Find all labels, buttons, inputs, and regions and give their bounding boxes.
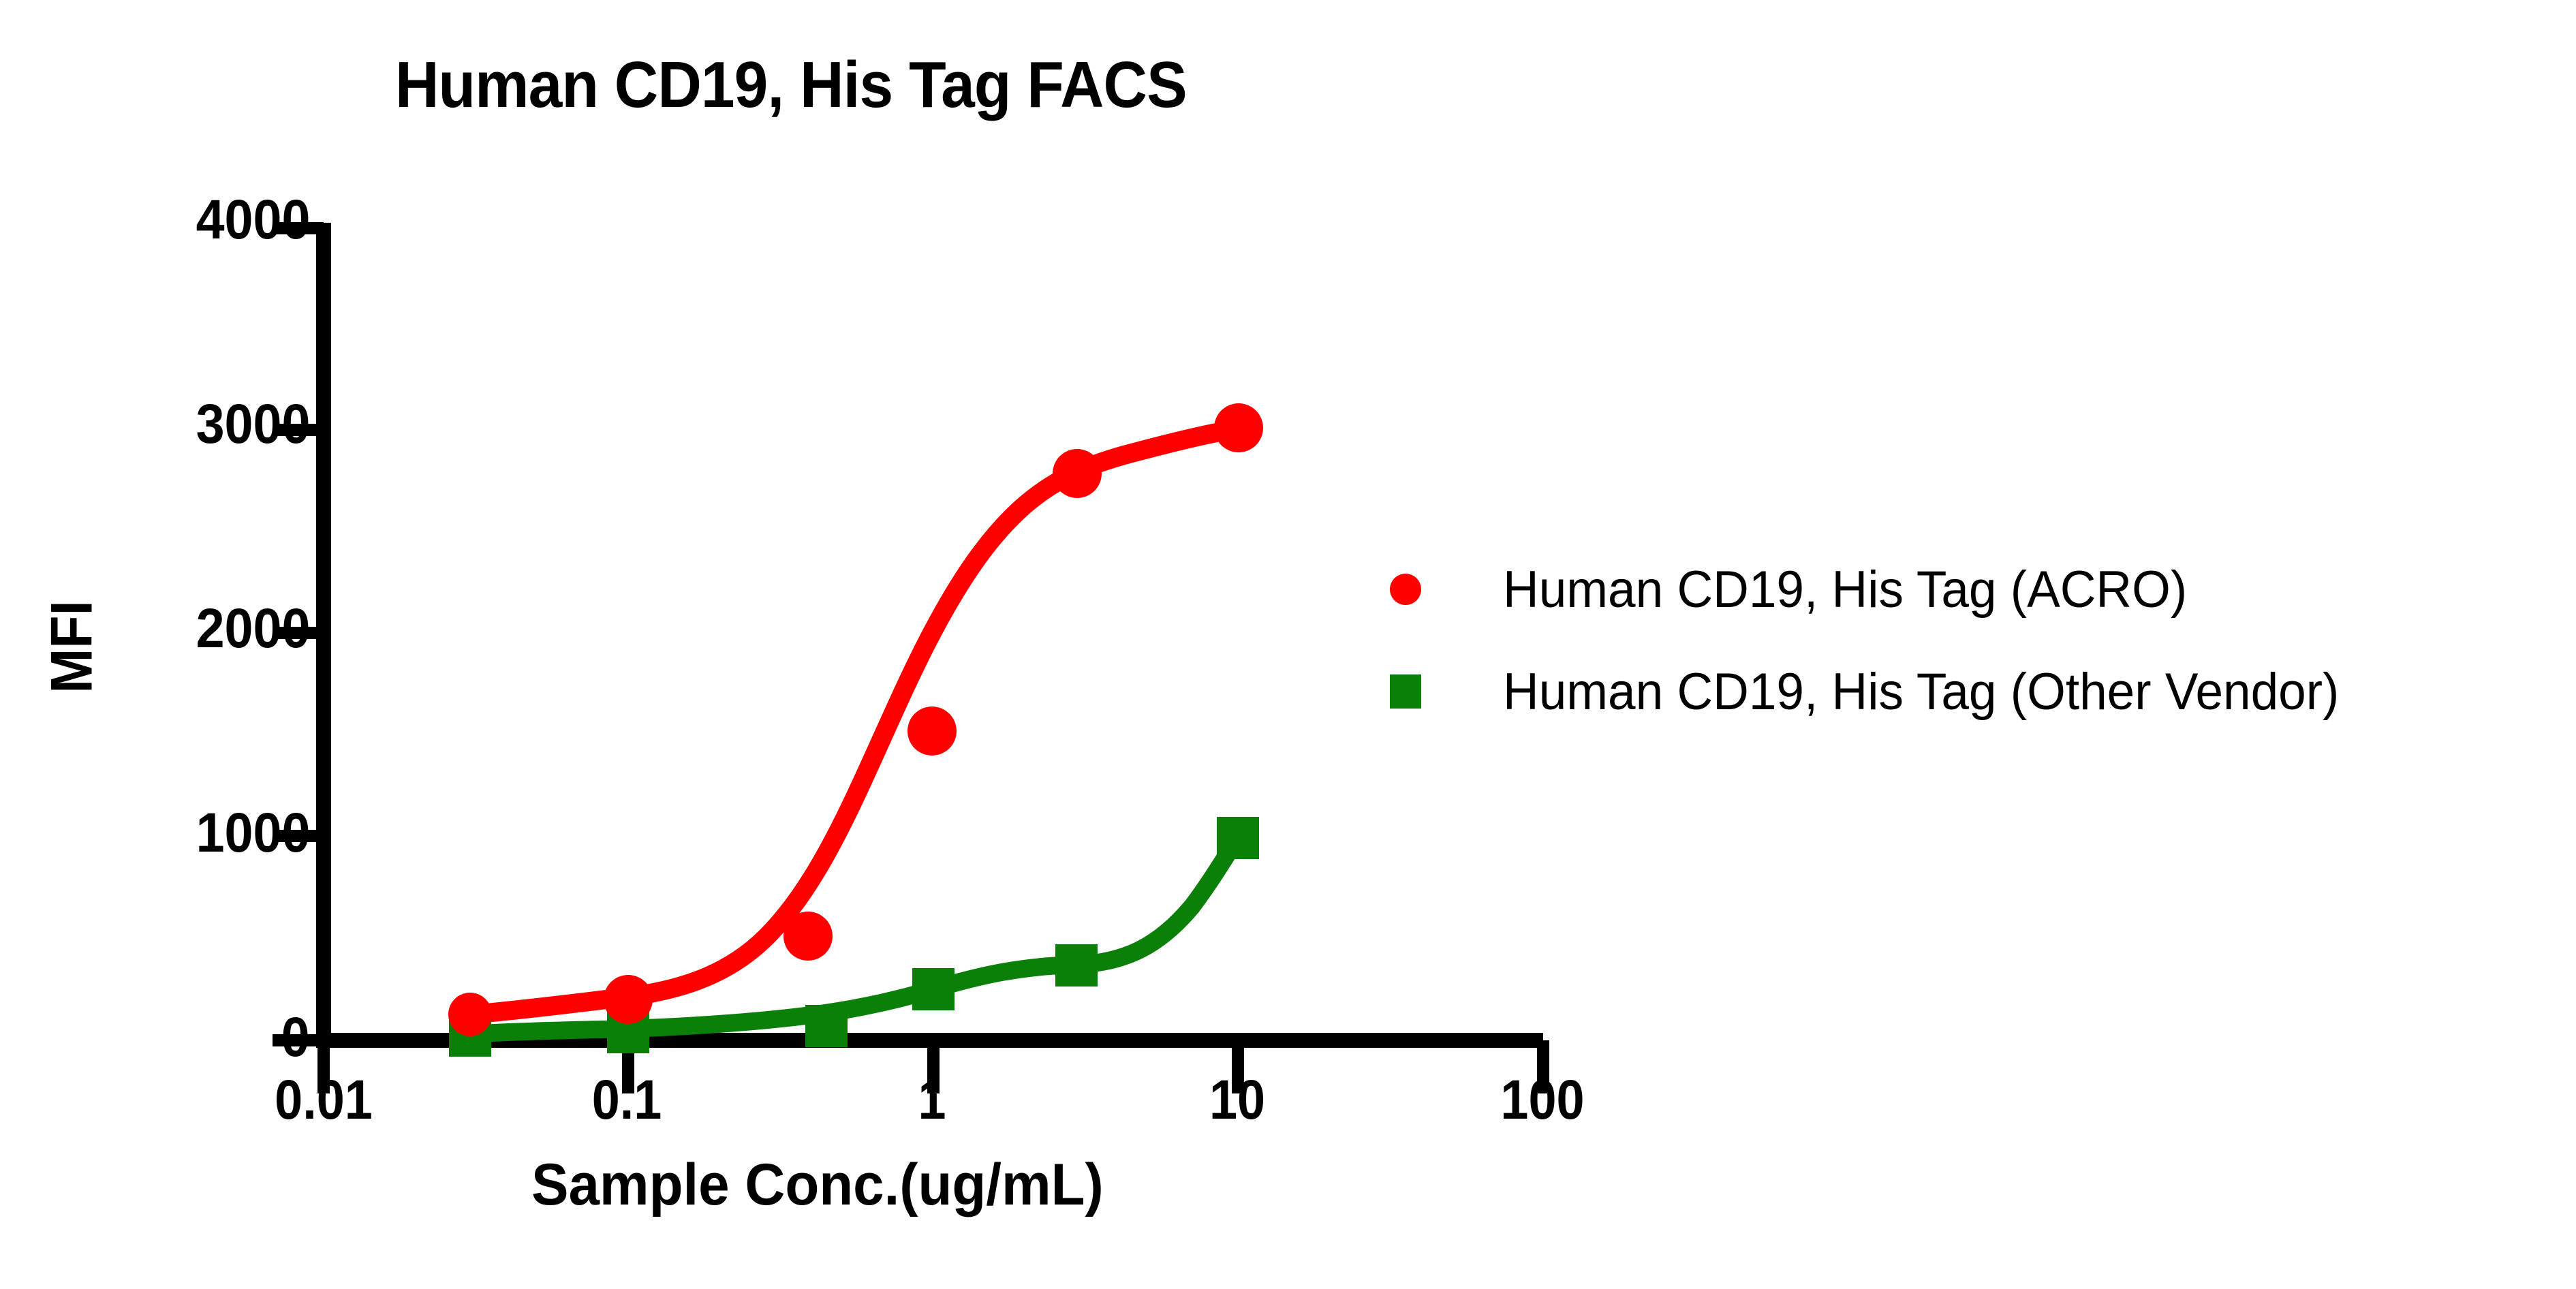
legend-label-other-vendor: Human CD19, His Tag (Other Vendor)	[1503, 662, 2339, 721]
chart-legend: Human CD19, His Tag (ACRO) Human CD19, H…	[1390, 538, 2374, 743]
data-point-acro-4	[1053, 449, 1102, 498]
legend-marker-square-icon	[1390, 674, 1421, 709]
data-point-acro-3	[907, 706, 957, 756]
legend-item-other-vendor: Human CD19, His Tag (Other Vendor)	[1390, 640, 2374, 743]
data-point-other-vendor-2	[805, 1005, 848, 1047]
legend-marker-circle-icon	[1390, 574, 1421, 605]
data-point-acro-1	[604, 975, 653, 1024]
data-point-other-vendor-3	[912, 968, 955, 1010]
data-point-acro-2	[783, 912, 833, 961]
series-curve-acro	[470, 429, 1238, 1014]
data-point-other-vendor-4	[1055, 944, 1098, 987]
legend-label-acro: Human CD19, His Tag (ACRO)	[1503, 560, 2187, 619]
data-point-acro-0	[448, 993, 492, 1036]
data-point-other-vendor-5	[1217, 817, 1259, 859]
legend-item-acro: Human CD19, His Tag (ACRO)	[1390, 538, 2374, 640]
data-point-acro-5	[1214, 403, 1263, 452]
chart-figure: Human CD19, His Tag FACS MFI Sample Conc…	[0, 0, 2576, 1289]
